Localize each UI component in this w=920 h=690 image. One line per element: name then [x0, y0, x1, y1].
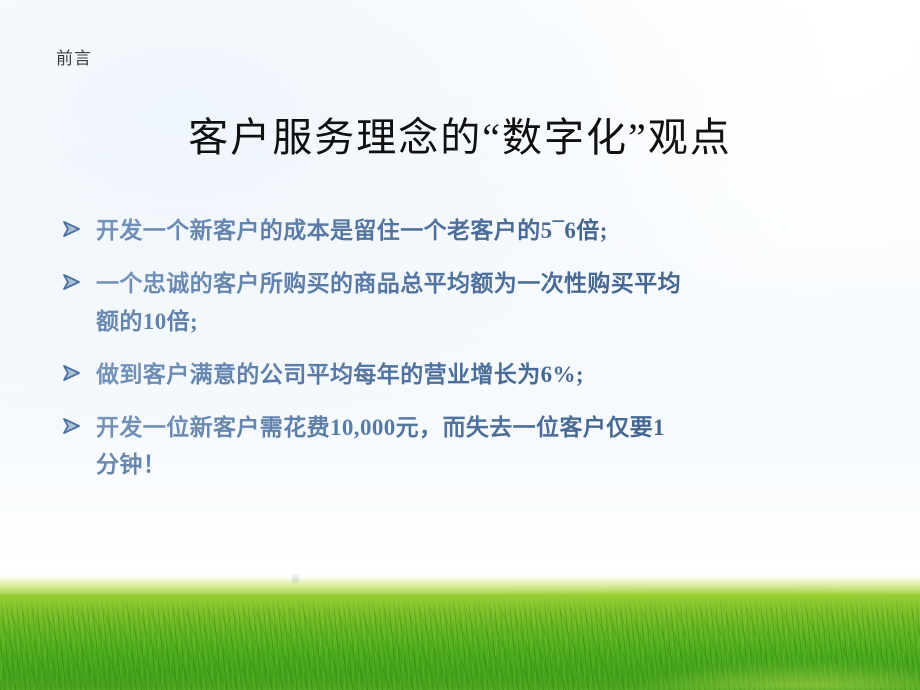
list-item-line-1: 开发一个新客户的成本是留住一个老客户的5¯6倍;: [96, 218, 608, 243]
list-item-line-1: 做到客户满意的公司平均每年的营业增长为6%;: [96, 362, 584, 387]
list-item-line-1: 开发一位新客户需花费10,000元，而失去一位客户仅要1: [96, 415, 665, 440]
list-item: 一个忠诚的客户所购买的商品总平均额为一次性购买平均额的10倍;: [62, 265, 894, 340]
grass-foreground-blur: [0, 644, 920, 690]
arrow-bullet-icon: [62, 212, 96, 238]
slide-title: 客户服务理念的“数字化”观点: [0, 114, 920, 161]
list-item-text: 开发一个新客户的成本是留住一个老客户的5¯6倍;: [96, 212, 894, 249]
list-item-text: 开发一位新客户需花费10,000元，而失去一位客户仅要1分钟！: [96, 409, 894, 484]
slide-section-label: 前言: [56, 50, 92, 67]
list-item-text: 做到客户满意的公司平均每年的营业增长为6%;: [96, 356, 894, 393]
list-item: 开发一个新客户的成本是留住一个老客户的5¯6倍;: [62, 212, 894, 249]
list-item: 开发一位新客户需花费10,000元，而失去一位客户仅要1分钟！: [62, 409, 894, 484]
list-item-line-2: 分钟！: [96, 446, 894, 483]
list-item-line-1: 一个忠诚的客户所购买的商品总平均额为一次性购买平均: [96, 271, 681, 296]
grass-field-image: [0, 560, 920, 690]
list-item-line-2: 额的10倍;: [96, 303, 894, 340]
presentation-slide: 前言 客户服务理念的“数字化”观点 开发一个新客户的成本是留住一个老客户的5¯6…: [0, 0, 920, 690]
list-item-text: 一个忠诚的客户所购买的商品总平均额为一次性购买平均额的10倍;: [96, 265, 894, 340]
arrow-bullet-icon: [62, 265, 96, 291]
bullet-list: 开发一个新客户的成本是留住一个老客户的5¯6倍; 一个忠诚的客户所购买的商品总平…: [62, 212, 894, 500]
arrow-bullet-icon: [62, 409, 96, 435]
list-item: 做到客户满意的公司平均每年的营业增长为6%;: [62, 356, 894, 393]
arrow-bullet-icon: [62, 356, 96, 382]
